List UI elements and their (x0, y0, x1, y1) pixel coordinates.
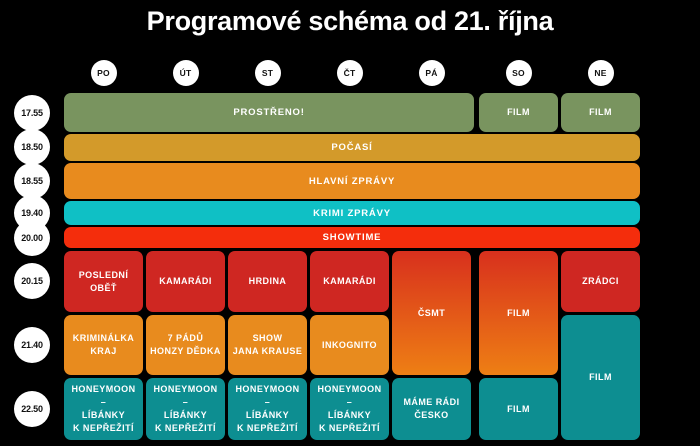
program-block-honeymoon-ct[interactable]: HONEYMOON – LÍBÁNKY K NEPŘEŽITÍ (310, 378, 389, 440)
program-block-7-padu-honzy-dedka[interactable]: 7 PÁDŮ HONZY DĚDKA (146, 315, 225, 375)
program-block-film-ne-2140[interactable]: FILM (561, 315, 640, 440)
program-label: HLAVNÍ ZPRÁVY (309, 175, 395, 188)
program-label: KRIMINÁLKA KRAJ (73, 332, 135, 358)
program-block-kamaradi-ct[interactable]: KAMARÁDI (310, 251, 389, 312)
program-label: INKOGNITO (322, 339, 377, 352)
program-label: PROSTŘENO! (233, 106, 304, 119)
program-block-showtime[interactable]: SHOWTIME (64, 227, 640, 248)
program-block-csmt[interactable]: ČSMT (392, 251, 471, 375)
program-block-krimi-zpravy[interactable]: KRIMI ZPRÁVY (64, 201, 640, 225)
program-block-honeymoon-st[interactable]: HONEYMOON – LÍBÁNKY K NEPŘEŽITÍ (228, 378, 307, 440)
program-block-honeymoon-po[interactable]: HONEYMOON – LÍBÁNKY K NEPŘEŽITÍ (64, 378, 143, 440)
program-label: SHOWTIME (323, 231, 382, 244)
program-label: HONEYMOON – LÍBÁNKY K NEPŘEŽITÍ (314, 383, 385, 435)
program-label: KRIMI ZPRÁVY (313, 207, 391, 220)
program-label: FILM (507, 106, 530, 119)
program-block-hrdina[interactable]: HRDINA (228, 251, 307, 312)
program-label: HONEYMOON – LÍBÁNKY K NEPŘEŽITÍ (232, 383, 303, 435)
program-label: POSLEDNÍ OBĚŤ (79, 269, 129, 295)
program-block-zradci[interactable]: ZRÁDCI (561, 251, 640, 312)
schedule-grid: PROSTŘENO!FILMFILMPOČASÍHLAVNÍ ZPRÁVYKRI… (0, 0, 700, 446)
program-block-show-jana-krause[interactable]: SHOW JANA KRAUSE (228, 315, 307, 375)
program-label: POČASÍ (331, 141, 372, 154)
program-label: FILM (507, 403, 530, 416)
program-block-kriminalka-kraj[interactable]: KRIMINÁLKA KRAJ (64, 315, 143, 375)
program-block-prostreno[interactable]: PROSTŘENO! (64, 93, 474, 132)
program-label: MÁME RÁDI ČESKO (403, 396, 459, 422)
program-block-film-so-2015[interactable]: FILM (479, 251, 558, 375)
program-block-kamaradi-ut[interactable]: KAMARÁDI (146, 251, 225, 312)
program-block-hlavni-zpravy[interactable]: HLAVNÍ ZPRÁVY (64, 163, 640, 199)
program-label: FILM (507, 307, 530, 320)
program-label: SHOW JANA KRAUSE (233, 332, 303, 358)
program-label: KAMARÁDI (323, 275, 376, 288)
program-label: ZRÁDCI (582, 275, 619, 288)
program-block-film-so-2250[interactable]: FILM (479, 378, 558, 440)
program-label: 7 PÁDŮ HONZY DĚDKA (150, 332, 221, 358)
program-block-honeymoon-ut[interactable]: HONEYMOON – LÍBÁNKY K NEPŘEŽITÍ (146, 378, 225, 440)
program-label: KAMARÁDI (159, 275, 212, 288)
program-label: HONEYMOON – LÍBÁNKY K NEPŘEŽITÍ (150, 383, 221, 435)
program-label: ČSMT (418, 307, 445, 320)
program-block-mame-radi-cesko[interactable]: MÁME RÁDI ČESKO (392, 378, 471, 440)
program-block-posledni-obet[interactable]: POSLEDNÍ OBĚŤ (64, 251, 143, 312)
program-block-inkognito[interactable]: INKOGNITO (310, 315, 389, 375)
program-label: FILM (589, 371, 612, 384)
program-label: FILM (589, 106, 612, 119)
program-label: HRDINA (249, 275, 287, 288)
program-block-pocasi[interactable]: POČASÍ (64, 134, 640, 161)
program-block-film-so-1755[interactable]: FILM (479, 93, 558, 132)
program-label: HONEYMOON – LÍBÁNKY K NEPŘEŽITÍ (68, 383, 139, 435)
program-block-film-ne-1755[interactable]: FILM (561, 93, 640, 132)
